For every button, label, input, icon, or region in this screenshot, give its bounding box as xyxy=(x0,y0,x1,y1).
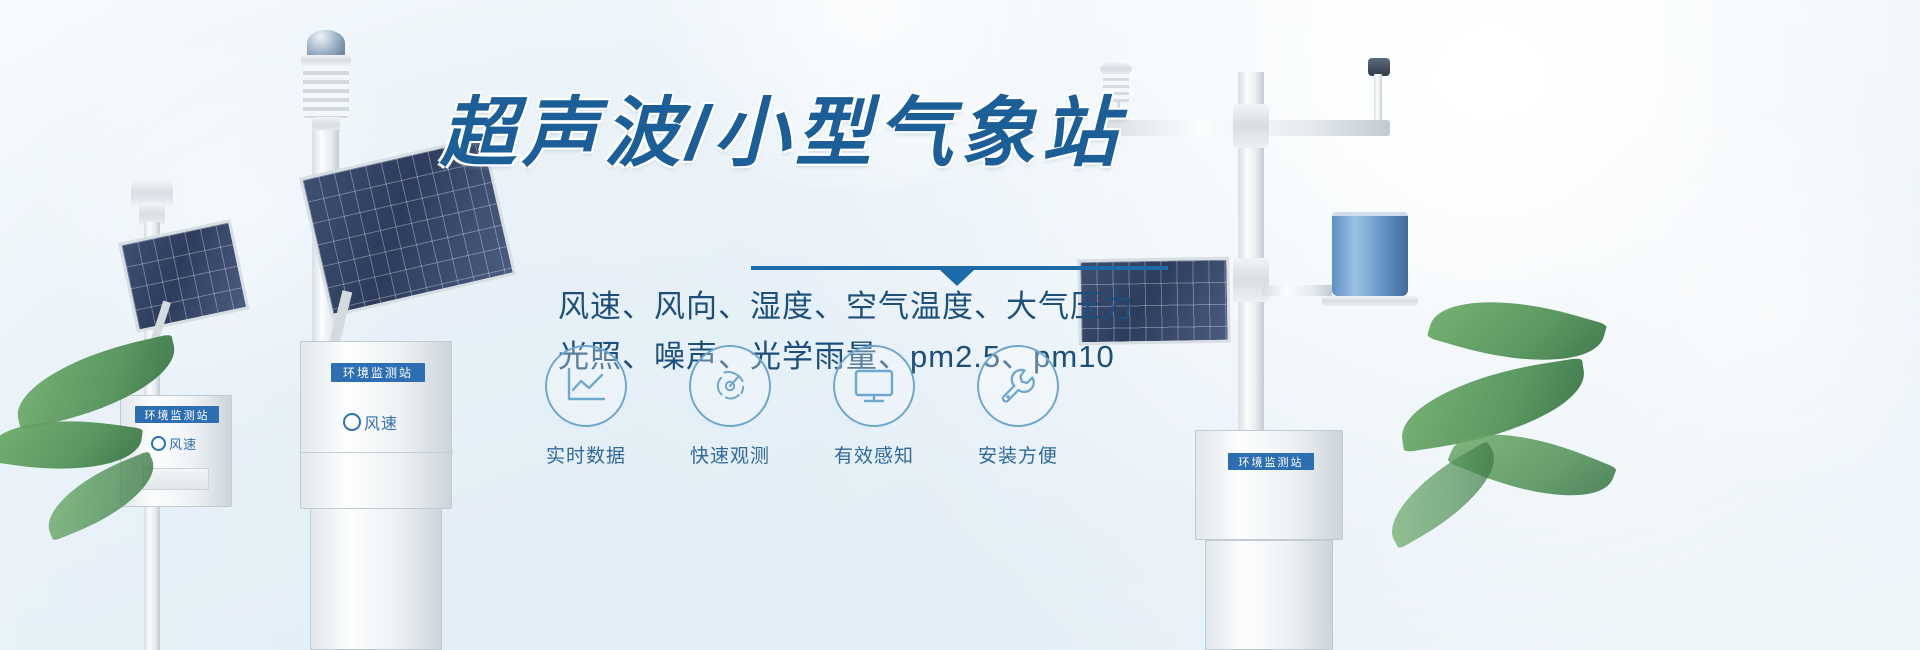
monitor-icon xyxy=(852,366,896,406)
center-cabinet-lower xyxy=(310,508,442,650)
feature-label: 有效感知 xyxy=(833,441,915,468)
feature-label: 快速观测 xyxy=(689,441,771,468)
wrench-icon xyxy=(996,364,1040,408)
feature-circle xyxy=(545,345,627,427)
right-cabinet-label: 环境监测站 xyxy=(1228,453,1314,470)
banner-text-block: 超声波/小型气象站 风速、风向、湿度、空气温度、大气压力 光照、噪声、光学雨量、… xyxy=(440,96,1140,172)
feature-item-effective-sensing[interactable]: 有效感知 xyxy=(833,345,915,468)
feature-item-easy-installation[interactable]: 安装方便 xyxy=(977,345,1059,468)
background-glow-1 xyxy=(1180,0,1800,290)
left-cabinet-brand: 风速 xyxy=(151,434,197,453)
center-dome-sensor xyxy=(307,30,345,56)
line-chart-icon xyxy=(564,366,608,406)
feature-circle xyxy=(977,345,1059,427)
radar-scan-icon xyxy=(708,364,752,408)
right-rain-gauge-shelf xyxy=(1322,296,1418,306)
brand-mark-icon xyxy=(151,436,166,451)
left-cabinet-label: 环境监测站 xyxy=(135,406,219,423)
title-divider xyxy=(751,262,1168,284)
left-sensor-head xyxy=(131,181,173,205)
right-rain-gauge xyxy=(1332,212,1408,296)
product-banner: 环境监测站 风速 环境监测站 风速 xyxy=(0,0,1920,650)
left-cabinet-vent xyxy=(143,468,209,490)
left-solar-panel xyxy=(118,219,250,333)
brand-text: 风速 xyxy=(169,434,197,453)
center-sensor-cap xyxy=(301,55,351,65)
feature-label: 安装方便 xyxy=(977,441,1059,468)
background-glow-3 xyxy=(1500,120,1920,480)
center-cabinet-door-seam xyxy=(301,452,453,453)
brand-mark-icon xyxy=(343,413,361,431)
right-mast-coupler-top xyxy=(1233,104,1269,148)
right-gauge-arm xyxy=(1262,285,1332,296)
page-title: 超声波/小型气象站 xyxy=(440,96,1140,172)
feature-circle xyxy=(833,345,915,427)
subtitle-line-1: 风速、风向、湿度、空气温度、大气压力 xyxy=(558,282,1134,332)
feature-list: 实时数据 快速观测 xyxy=(545,345,1059,468)
brand-text: 风速 xyxy=(364,410,398,434)
leaf-right-4 xyxy=(1374,441,1512,549)
feature-label: 实时数据 xyxy=(545,441,627,468)
feature-item-fast-observation[interactable]: 快速观测 xyxy=(689,345,771,468)
right-cabinet-lower xyxy=(1205,540,1333,650)
feature-item-realtime-data[interactable]: 实时数据 xyxy=(545,345,627,468)
right-vane-stem xyxy=(1374,74,1382,124)
center-cabinet: 环境监测站 风速 xyxy=(300,341,452,509)
center-cabinet-label: 环境监测站 xyxy=(331,363,425,382)
center-radiation-shield xyxy=(303,66,349,118)
right-cabinet: 环境监测站 xyxy=(1195,430,1343,540)
center-cabinet-brand: 风速 xyxy=(343,410,398,434)
feature-circle xyxy=(689,345,771,427)
